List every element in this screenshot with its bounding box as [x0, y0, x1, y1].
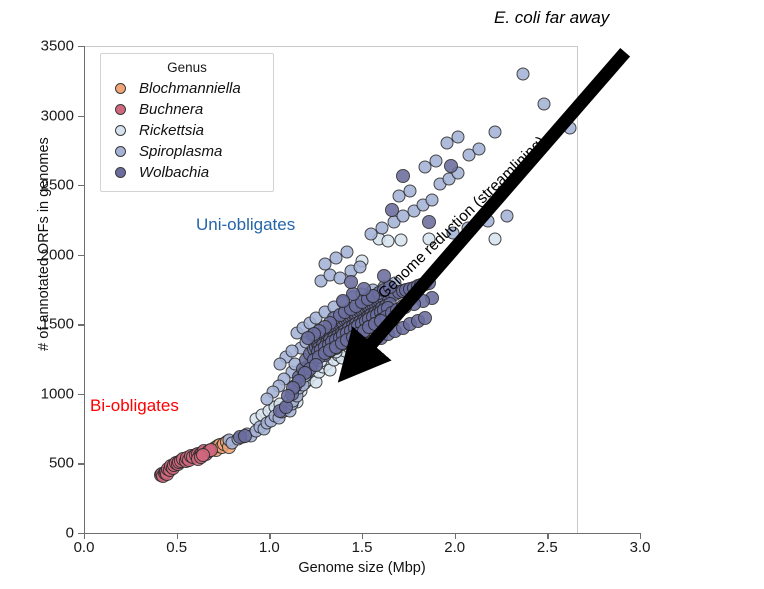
legend-item-label: Buchnera [139, 101, 203, 118]
annotation-uni-obligates: Uni-obligates [196, 215, 295, 235]
scatter-point [404, 184, 417, 197]
scatter-point [452, 131, 465, 144]
legend-entries: BlochmanniellaBuchneraRickettsiaSpiropla… [109, 78, 265, 183]
scatter-point [381, 235, 394, 248]
scatter-point [344, 275, 358, 289]
legend-swatch-icon [115, 146, 126, 157]
scatter-point [261, 393, 274, 406]
y-tick-label: 3500 [30, 38, 74, 55]
legend-item-rickettsia[interactable]: Rickettsia [109, 120, 265, 141]
scatter-point [430, 155, 443, 168]
scatter-point [301, 331, 315, 345]
legend-item-buchnera[interactable]: Buchnera [109, 99, 265, 120]
annotation-ecoli-far-away: E. coli far away [494, 8, 609, 28]
scatter-point [500, 210, 513, 223]
x-tick-label: 0.0 [74, 539, 95, 556]
scatter-point [374, 314, 388, 328]
scatter-point [418, 311, 432, 325]
scatter-point [238, 429, 252, 443]
scatter-point [398, 300, 412, 314]
scatter-point [489, 232, 502, 245]
x-tick-label: 2.0 [444, 539, 465, 556]
scatter-point [285, 344, 298, 357]
scatter-point [394, 234, 407, 247]
legend-item-spiroplasma[interactable]: Spiroplasma [109, 141, 265, 162]
x-axis-title: Genome size (Mbp) [84, 560, 640, 576]
legend-swatch-icon [115, 83, 126, 94]
legend-title: Genus [109, 60, 265, 75]
legend-item-blochmanniella[interactable]: Blochmanniella [109, 78, 265, 99]
x-tick-label: 0.5 [166, 539, 187, 556]
scatter-point [336, 294, 350, 308]
legend-item-label: Rickettsia [139, 122, 204, 139]
legend-swatch-icon [115, 167, 126, 178]
scatter-point [422, 276, 436, 290]
legend[interactable]: Genus BlochmanniellaBuchneraRickettsiaSp… [100, 53, 274, 192]
annotation-bi-obligates: Bi-obligates [90, 396, 179, 416]
scatter-point [444, 159, 458, 173]
legend-swatch-icon [115, 125, 126, 136]
scatter-point [563, 122, 576, 135]
y-axis-title: # of annotated ORFs in genomes [36, 94, 52, 394]
scatter-point [196, 448, 210, 462]
chart-canvas: 0500100015002000250030003500 0.00.51.01.… [0, 0, 764, 589]
x-tick-label: 1.0 [259, 539, 280, 556]
scatter-point [385, 203, 399, 217]
legend-item-wolbachia[interactable]: Wolbachia [109, 162, 265, 183]
x-tick-label: 1.5 [352, 539, 373, 556]
scatter-point [517, 67, 530, 80]
legend-swatch-icon [115, 104, 126, 115]
scatter-point [489, 125, 502, 138]
scatter-point [341, 245, 354, 258]
scatter-point [422, 215, 436, 229]
legend-item-label: Spiroplasma [139, 143, 222, 160]
x-tick-label: 2.5 [537, 539, 558, 556]
scatter-point [537, 98, 550, 111]
scatter-point [472, 142, 485, 155]
legend-item-label: Wolbachia [139, 164, 209, 181]
y-tick-label: 0 [30, 525, 74, 542]
scatter-point [281, 389, 295, 403]
y-tick-label: 500 [30, 455, 74, 472]
x-tick-label: 3.0 [630, 539, 651, 556]
scatter-point [354, 261, 367, 274]
legend-item-label: Blochmanniella [139, 80, 241, 97]
scatter-point [426, 193, 439, 206]
scatter-point [482, 215, 495, 228]
scatter-point [396, 169, 410, 183]
